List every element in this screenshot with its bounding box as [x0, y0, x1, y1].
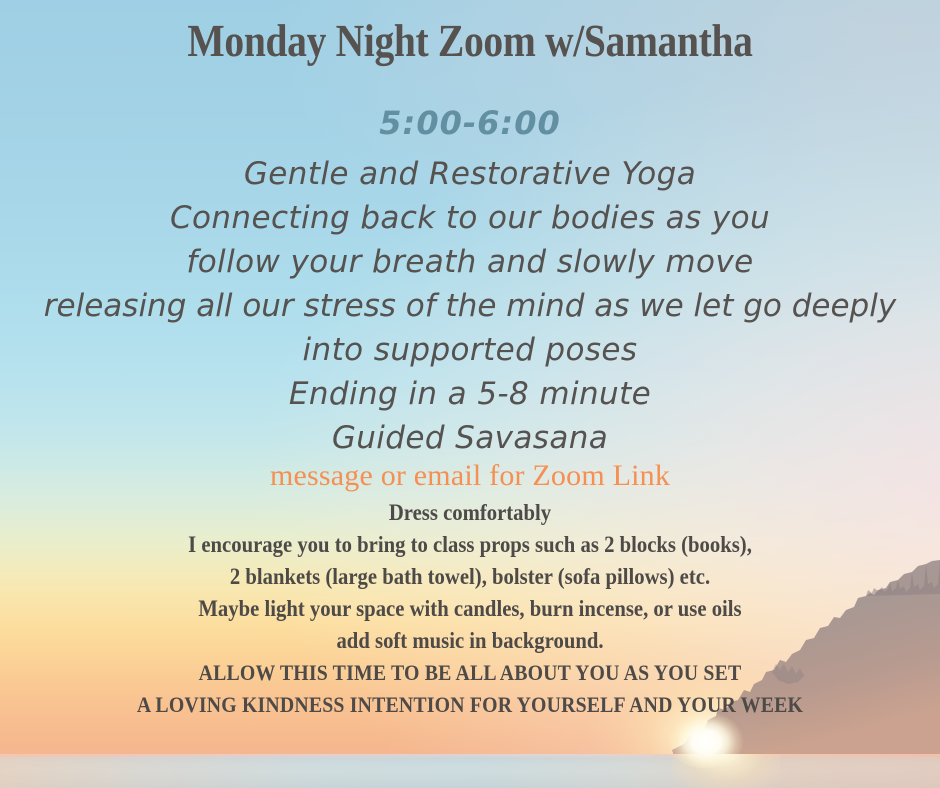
note-line: Maybe light your space with candles, bur… [47, 593, 893, 625]
description-line: into supported poses [0, 328, 940, 372]
flyer-text-content: Monday Night Zoom w/Samantha 5:00-6:00 G… [0, 0, 940, 788]
description-line: releasing all our stress of the mind as … [0, 284, 940, 328]
description-line: Guided Savasana [0, 416, 940, 460]
closing-line: ALLOW THIS TIME TO BE ALL ABOUT YOU AS Y… [47, 657, 893, 689]
preparation-notes-block: Dress comfortably I encourage you to bri… [0, 497, 940, 721]
note-line: 2 blankets (large bath towel), bolster (… [47, 561, 893, 593]
description-line: Gentle and Restorative Yoga [0, 152, 940, 196]
zoom-link-note[interactable]: message or email for Zoom Link [0, 459, 940, 493]
description-line: Connecting back to our bodies as you [0, 196, 940, 240]
yoga-class-flyer: Monday Night Zoom w/Samantha 5:00-6:00 G… [0, 0, 940, 788]
note-line: add soft music in background. [47, 625, 893, 657]
description-line: follow your breath and slowly move [0, 240, 940, 284]
flyer-title: Monday Night Zoom w/Samantha [66, 14, 874, 67]
note-line: I encourage you to bring to class props … [47, 529, 893, 561]
closing-line: A LOVING KINDNESS INTENTION FOR YOURSELF… [47, 689, 893, 721]
class-time: 5:00-6:00 [0, 104, 940, 142]
description-line: Ending in a 5-8 minute [0, 372, 940, 416]
class-description-block: Gentle and Restorative Yoga Connecting b… [0, 152, 940, 460]
note-line: Dress comfortably [47, 497, 893, 529]
